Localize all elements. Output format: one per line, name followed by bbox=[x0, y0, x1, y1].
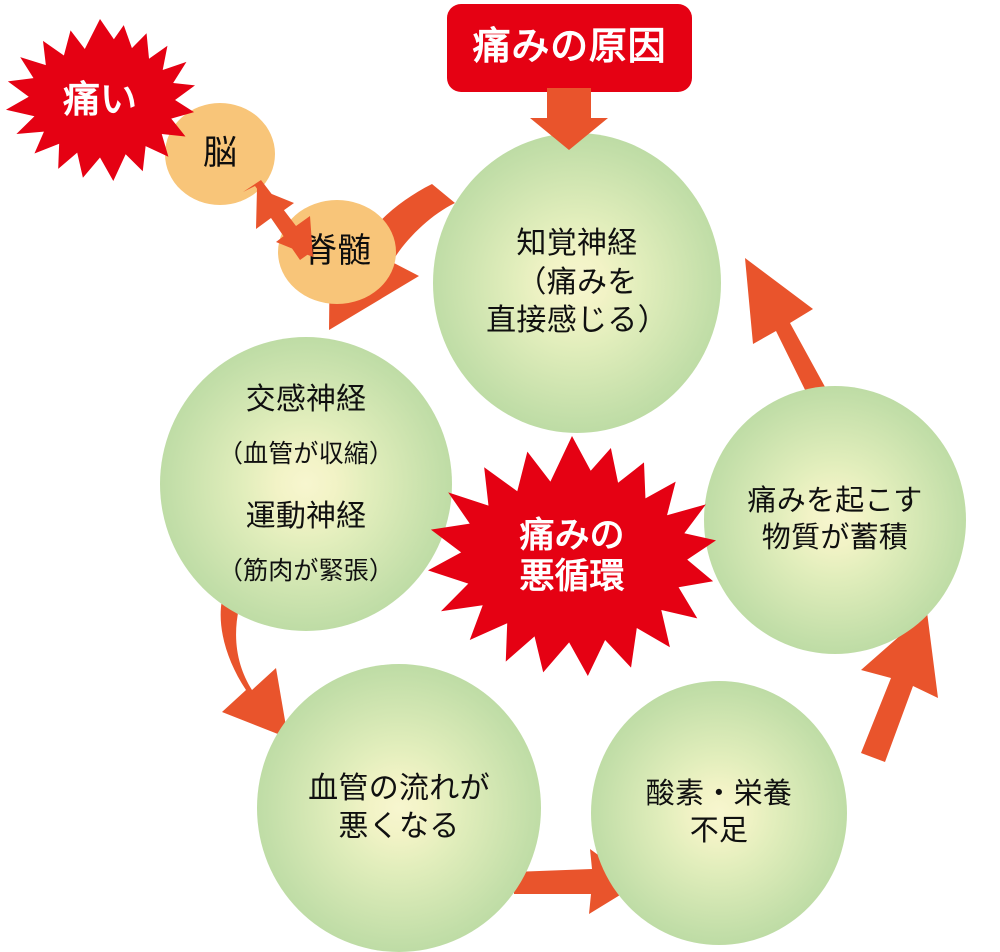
node-blood-flow[interactable]: 血管の流れが 悪くなる bbox=[257, 664, 541, 952]
node-pain-substance[interactable]: 痛みを起こす 物質が蓄積 bbox=[704, 386, 966, 654]
node-pain-substance-label: 痛みを起こす 物質が蓄積 bbox=[747, 483, 922, 557]
node-spinal-cord-label: 脊髄 bbox=[303, 233, 371, 270]
node-sympathetic-motor-nerve-label: 交感神経 （血管が収縮） 運動神経 （筋肉が緊張） bbox=[218, 360, 394, 607]
node-sensory-nerve[interactable]: 知覚神経 （痛みを 直接感じる） bbox=[433, 133, 721, 433]
node-blood-flow-label: 血管の流れが 悪くなる bbox=[308, 770, 490, 847]
node-sympathetic-motor-nerve[interactable]: 交感神経 （血管が収縮） 運動神経 （筋肉が緊張） bbox=[160, 337, 452, 631]
burst-vicious-cycle[interactable]: 痛みの 悪循環 bbox=[428, 436, 716, 676]
burst-vicious-cycle-text: 痛みの 悪循環 bbox=[519, 515, 624, 598]
burst-pain[interactable]: 痛い bbox=[5, 19, 195, 181]
burst-pain-text: 痛い bbox=[63, 78, 137, 122]
arrow-painsubstance-to-sensory bbox=[745, 258, 830, 404]
node-oxygen-deficiency-label: 酸素・栄養 不足 bbox=[646, 776, 792, 850]
node-oxygen-deficiency[interactable]: 酸素・栄養 不足 bbox=[591, 681, 847, 945]
motor-nerve-sub: （筋肉が緊張） bbox=[218, 555, 394, 587]
label-pain-cause[interactable]: 痛みの原因 bbox=[447, 4, 692, 92]
sympathetic-nerve-sub: （血管が収縮） bbox=[218, 438, 394, 470]
sympathetic-nerve-line: 交感神経 bbox=[218, 381, 394, 419]
node-spinal-cord[interactable]: 脊髄 bbox=[278, 200, 396, 304]
diagram-canvas: 知覚神経 （痛みを 直接感じる） 痛みを起こす 物質が蓄積 酸素・栄養 不足 血… bbox=[0, 0, 1000, 952]
motor-nerve-line: 運動神経 bbox=[218, 498, 394, 536]
node-sensory-nerve-label: 知覚神経 （痛みを 直接感じる） bbox=[486, 225, 668, 340]
node-brain-label: 脳 bbox=[203, 135, 237, 172]
label-pain-cause-text: 痛みの原因 bbox=[473, 27, 667, 69]
